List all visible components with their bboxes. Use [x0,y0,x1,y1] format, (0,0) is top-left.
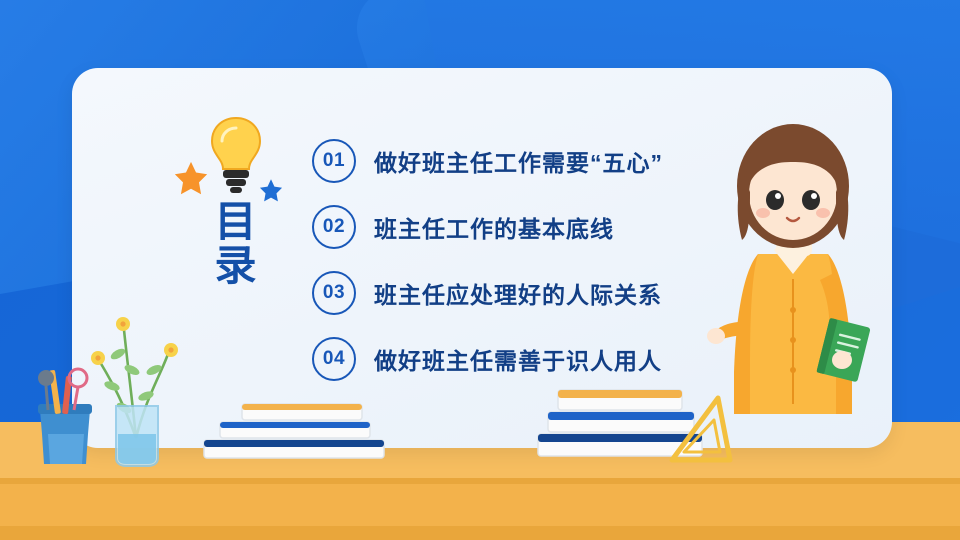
list-item[interactable]: 03 班主任应处理好的人际关系 [312,260,742,326]
slide-root: 目 录 01 做好班主任工作需要“五心” 02 班主任工作的基本底线 03 班主… [0,0,960,540]
item-label: 做好班主任工作需要“五心” [374,144,663,178]
list-item[interactable]: 04 做好班主任需善于识人用人 [312,326,742,392]
desk-edge [0,478,960,484]
list-item[interactable]: 02 班主任工作的基本底线 [312,194,742,260]
stack-of-books [192,396,402,466]
toc-list: 01 做好班主任工作需要“五心” 02 班主任工作的基本底线 03 班主任应处理… [312,128,742,392]
list-item[interactable]: 01 做好班主任工作需要“五心” [312,128,742,194]
pen-cup [38,369,92,464]
item-number-badge: 03 [312,271,356,315]
star-icon [172,160,210,198]
item-label: 做好班主任需善于识人用人 [374,342,662,376]
item-label: 班主任工作的基本底线 [374,210,614,244]
triangle-ruler-icon [660,386,740,466]
item-number-badge: 02 [312,205,356,249]
item-label: 班主任应处理好的人际关系 [374,276,662,310]
item-number-badge: 01 [312,139,356,183]
item-number-badge: 04 [312,337,356,381]
page-title-line-1: 目 [182,200,292,244]
desk-bottom-band [0,526,960,540]
plant-in-vase [28,258,218,468]
